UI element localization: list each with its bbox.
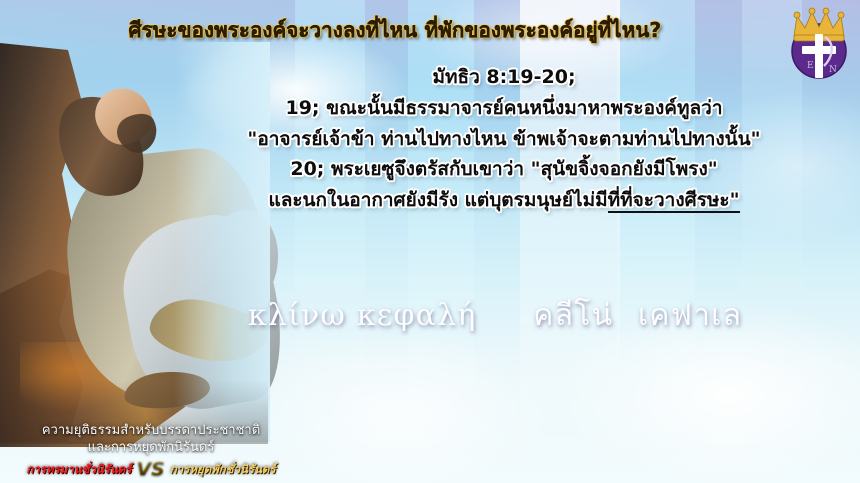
- banner-left-label: การทรมานชั่วนิรันดร์: [26, 461, 131, 479]
- thai-translit-klino: คลีโน่: [533, 298, 613, 333]
- greek-terms-row: κλίνω κεφαλή คลีโน่ เคฟาเล: [0, 292, 860, 339]
- banner-right-label: การหยุดพักชั่วนิรันดร์: [170, 461, 276, 479]
- page-title: ศีรษะของพระองค์จะวางลงที่ไหน ที่พักของพร…: [0, 18, 860, 42]
- verse-line-20-underlined: ที่ที่จะวางศีรษะ": [608, 189, 740, 213]
- banner-vs-label: VS: [136, 460, 164, 479]
- slide-canvas: E N ศีรษะของพระองค์จะวางลงที่ไหน ที่พักข…: [0, 0, 860, 483]
- verse-line-19-quote: "อาจารย์เจ้าข้า ท่านไปทางไหน ข้าพเจ้าจะต…: [170, 124, 838, 155]
- greek-word-klino: κλίνω: [248, 298, 346, 333]
- verse-line-19: 19; ขณะนั้นมีธรรมาจารย์คนหนึ่งมาหาพระองค…: [170, 93, 838, 124]
- verse-line-20: 20; พระเยซูจึงตรัสกับเขาว่า "สุนัขจิ้งจอ…: [170, 154, 838, 185]
- banner-line-1: ความยุติธรรมสำหรับบรรดาประชาชาติ: [0, 422, 302, 440]
- scripture-block: มัทธิว 8:19-20; 19; ขณะนั้นมีธรรมาจารย์ค…: [0, 62, 860, 216]
- thai-translit-kephale: เคฟาเล: [638, 298, 742, 333]
- verse-reference: มัทธิว 8:19-20;: [170, 62, 838, 93]
- banner-vs-row: การทรมานชั่วนิรันดร์ VS การหยุดพักชั่วนิ…: [0, 460, 302, 479]
- bottom-banner: ความยุติธรรมสำหรับบรรดาประชาชาติ และการห…: [0, 422, 302, 479]
- greek-word-kephale: κεφαλή: [357, 298, 477, 333]
- verse-line-20-prefix: และนกในอากาศยังมีรัง แต่บุตรมนุษย์ไม่มี: [268, 189, 607, 211]
- verse-line-20-cont: และนกในอากาศยังมีรัง แต่บุตรมนุษย์ไม่มีท…: [170, 185, 838, 216]
- banner-line-2: และการหยุดพักนิรันดร์: [0, 439, 302, 457]
